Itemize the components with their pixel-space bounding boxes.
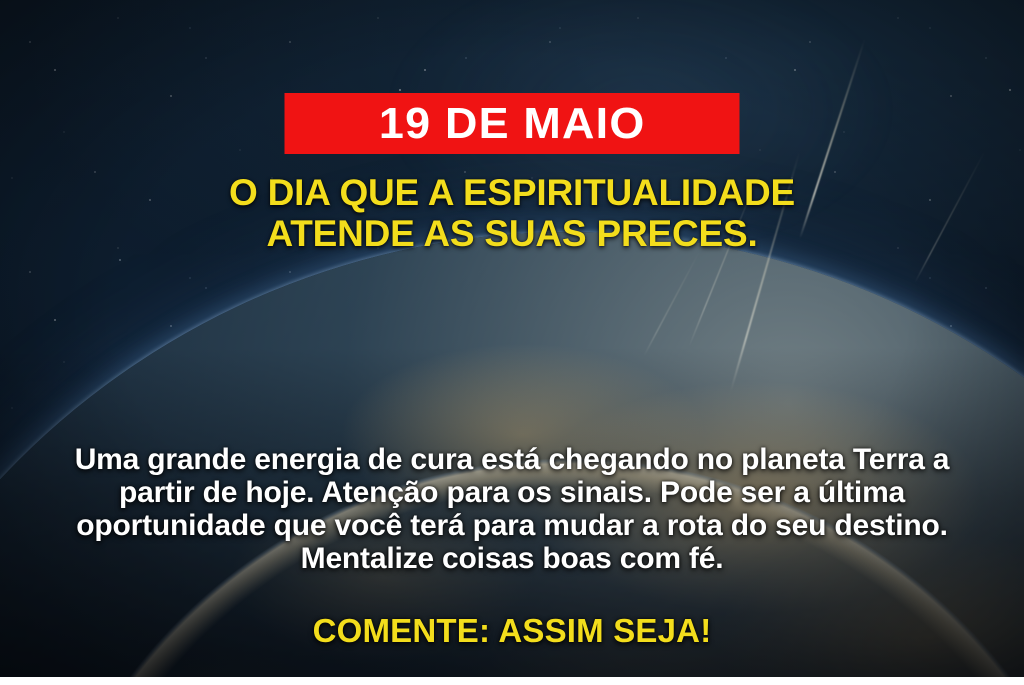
poster-content: 19 DE MAIO O DIA QUE A ESPIRITUALIDADE A… (0, 0, 1024, 685)
headline-line-1: O DIA QUE A ESPIRITUALIDADE (0, 172, 1024, 213)
date-banner-label: 19 DE MAIO (379, 102, 646, 146)
call-to-action: COMENTE: ASSIM SEJA! (0, 614, 1024, 647)
date-banner: 19 DE MAIO (285, 93, 740, 154)
headline: O DIA QUE A ESPIRITUALIDADE ATENDE AS SU… (0, 172, 1024, 254)
body-paragraph: Uma grande energia de cura está chegando… (62, 443, 962, 575)
poster: 19 DE MAIO O DIA QUE A ESPIRITUALIDADE A… (0, 0, 1024, 685)
headline-line-2: ATENDE AS SUAS PRECES. (0, 213, 1024, 254)
